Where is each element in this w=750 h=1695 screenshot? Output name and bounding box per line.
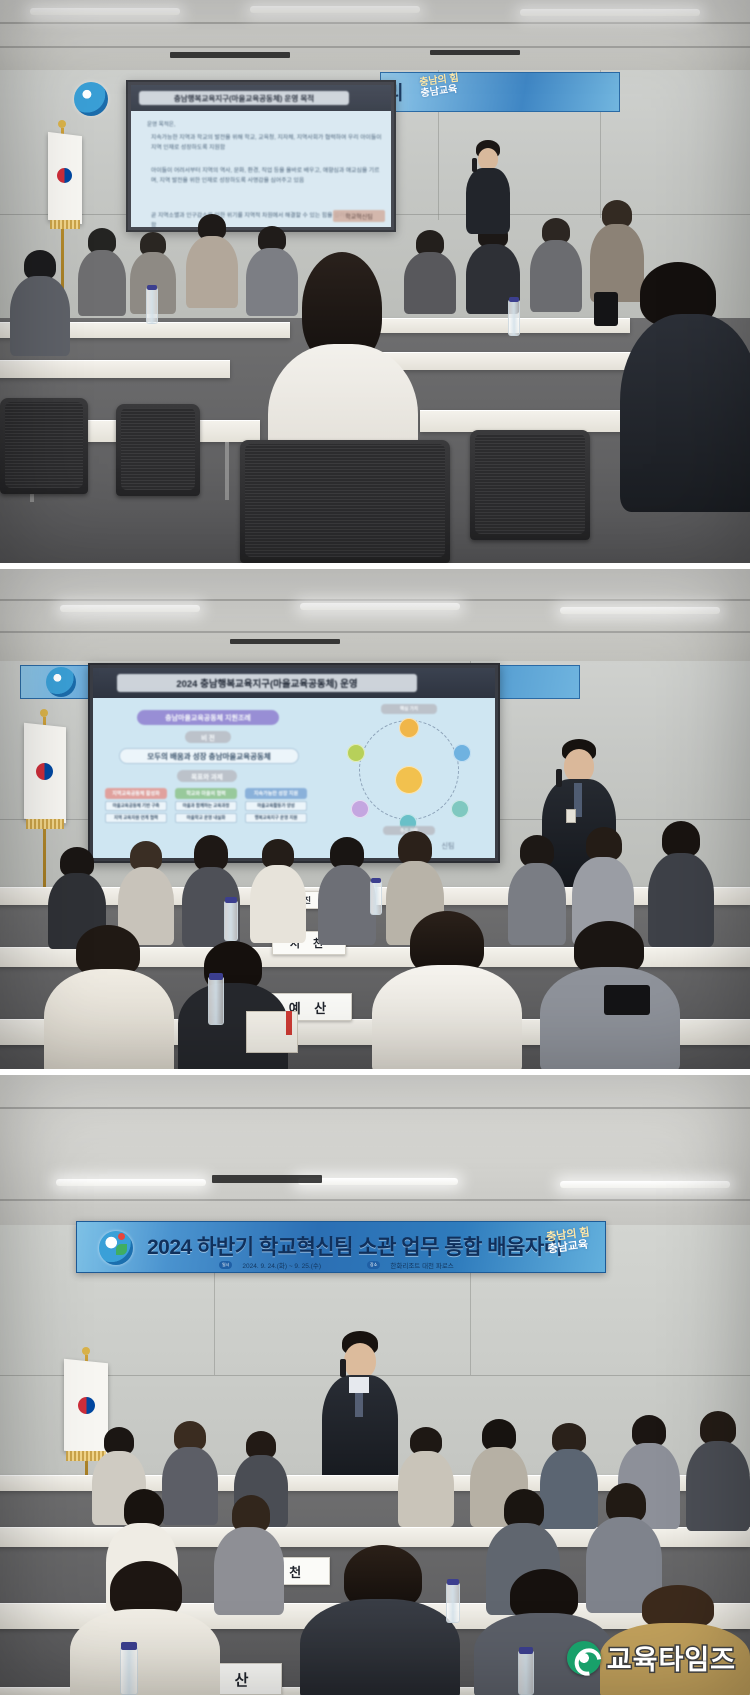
shoulders: [530, 240, 582, 312]
watermark-text: 교육타임즈: [607, 1638, 736, 1677]
ceiling-light: [250, 6, 420, 13]
audience-member: [78, 228, 126, 318]
audience-member: [318, 837, 376, 947]
microphone: [340, 1359, 346, 1377]
hair: [194, 835, 228, 871]
flag-fringe: [50, 220, 80, 229]
audience-member-foreground: [44, 925, 174, 1069]
ceiling-seam: [0, 46, 750, 48]
ceiling-vent: [170, 52, 290, 58]
suit-body: [466, 168, 510, 234]
diagram-node-center: [395, 766, 423, 794]
flag-fringe: [26, 819, 64, 829]
chair: [470, 430, 590, 540]
institution-logo-icon: [99, 1231, 133, 1265]
banner-title: 2024 하반기 학교혁신팀 소관 업무 통합 배움자리: [147, 1231, 562, 1261]
ceiling-light: [298, 1178, 458, 1185]
hair: [700, 1411, 736, 1445]
chair: [0, 398, 88, 494]
audience-member: [10, 250, 70, 360]
head: [344, 1343, 376, 1379]
head: [478, 148, 498, 170]
audience-member-foreground-right: [620, 262, 750, 512]
water-bottle: [208, 977, 224, 1025]
slide-chip-vision-label: 비 전: [185, 731, 231, 743]
flag-taegeuk-icon: [36, 763, 53, 780]
conference-photo-2: 충남의 힘 충남교육 2024 충남행복교육지구(마을교육공동체) 운영 충남마…: [0, 569, 750, 1069]
microphone: [472, 158, 477, 172]
diagram-node: [351, 800, 369, 818]
slide-chip-goal-label: 목표와 과제: [177, 770, 237, 782]
shoulders: [398, 1451, 454, 1527]
logo-leaf: [116, 1244, 127, 1255]
conference-banner: 2024 하반기 학교혁신팀 소관 업무 통합 배움자리 일시 2024. 9.…: [76, 1221, 606, 1273]
head: [564, 749, 594, 783]
bottle-cap: [225, 897, 237, 903]
chair-mesh: [121, 408, 195, 490]
shoulders: [214, 1527, 284, 1615]
audience-member-foreground: [372, 911, 522, 1069]
dress-shirt: [349, 1377, 369, 1393]
audience-member: [398, 1427, 454, 1529]
bottle-cap: [209, 973, 223, 980]
shoulders: [404, 252, 456, 314]
bottle-cap: [121, 1642, 137, 1650]
water-bottle: [518, 1651, 534, 1695]
photo-composite: 리 충남의 힘 충남교육 충남행복교육지구(마을교육공동체) 운영 목적 운영 …: [0, 0, 750, 1695]
diagram-node: [347, 744, 365, 762]
slide-col-item: 마을교육활동가 양성: [245, 801, 307, 811]
smartphone: [594, 292, 618, 326]
desk-row: [0, 360, 230, 378]
slide-header: 2024 충남행복교육지구(마을교육공동체) 운영: [93, 668, 495, 698]
slide-title: 2024 충남행복교육지구(마을교육공동체) 운영: [117, 674, 417, 692]
ceiling-seam: [0, 22, 750, 24]
projector-glow: [120, 74, 404, 240]
bottle-cap: [519, 1647, 533, 1654]
shoulders: [250, 865, 306, 943]
slide-col-item: 마을학교 운영 내실화: [175, 813, 237, 823]
slide-chip-header: 충남마을교육공동체 지원조례: [137, 710, 279, 725]
desk-leg: [225, 442, 229, 500]
bottle-cap: [371, 878, 381, 883]
microphone: [556, 769, 562, 787]
slide-col-header: 지역교육공동체 활성화: [105, 788, 167, 799]
flag-finial: [40, 709, 48, 717]
institution-logo-icon: [46, 667, 76, 697]
shoulders: [10, 276, 70, 356]
shoulders: [372, 965, 522, 1069]
flag-finial: [58, 120, 66, 128]
diagram-node: [451, 800, 469, 818]
audience-member: [214, 1495, 284, 1613]
place-tag: 장소: [367, 1261, 380, 1269]
flag-taegeuk-icon: [57, 168, 72, 183]
slide-chip-vision-text: 모두의 배움과 성장 충남마을교육공동체: [119, 748, 299, 764]
shoulders: [686, 1441, 750, 1531]
audience-member: [250, 839, 306, 945]
chair-mesh: [245, 444, 445, 557]
ceiling-light: [560, 1181, 730, 1188]
hair: [398, 831, 432, 865]
shoulders: [620, 314, 750, 512]
slide-col-item: 마을과 함께하는 교육과정: [175, 801, 237, 811]
water-bottle: [146, 288, 158, 324]
shoulders: [186, 236, 238, 308]
ceiling-light: [56, 1179, 206, 1186]
ceiling-light: [30, 8, 180, 15]
flag-taegeuk-icon: [78, 1397, 95, 1414]
diagram-node: [453, 744, 471, 762]
logo-dot: [118, 1233, 125, 1240]
presenter: [462, 140, 514, 234]
bottle-cap: [147, 285, 157, 290]
shoulders: [70, 1609, 220, 1695]
slide-col-item: 행복교육지구 운영 지원: [245, 813, 307, 823]
slide-col-header: 학교와 마을의 협력: [175, 788, 237, 799]
water-bottle: [120, 1647, 138, 1695]
bookmark: [286, 1011, 292, 1035]
banner-place: 한화리조트 대천 파로스: [390, 1260, 453, 1270]
shoulders: [300, 1599, 460, 1695]
slide-diagram: 핵심 가치 추진 전략: [329, 704, 489, 834]
shoulders: [318, 865, 376, 945]
education-times-logo-icon: [567, 1641, 601, 1675]
bottle-cap: [447, 1579, 459, 1585]
institution-logo-icon: [74, 82, 108, 116]
water-bottle: [446, 1583, 460, 1623]
ceiling-vent: [430, 50, 520, 55]
slide-col-header: 지속가능한 성장 지원: [245, 788, 307, 799]
ceiling-seam: [0, 599, 750, 601]
hair: [662, 821, 700, 857]
watermark: 교육타임즈: [567, 1638, 736, 1677]
banner-fragment: [380, 72, 620, 112]
banner-date: 2024. 9. 24.(화) ~ 9. 25.(수): [242, 1260, 321, 1270]
ceiling-light: [520, 9, 700, 16]
camera-device: [604, 985, 650, 1015]
shoulders: [44, 969, 174, 1069]
shoulders: [78, 250, 126, 316]
banner-subtitle: 일시 2024. 9. 24.(화) ~ 9. 25.(수) 장소 한화리조트 …: [219, 1260, 454, 1270]
chair-mesh: [475, 434, 585, 534]
date-tag: 일시: [219, 1261, 232, 1269]
ceiling-vent: [212, 1175, 322, 1183]
ceiling-light: [300, 603, 460, 610]
audience-member: [404, 230, 456, 316]
ceiling-seam: [0, 631, 750, 633]
ceiling-seam: [0, 1107, 750, 1109]
water-bottle: [370, 881, 382, 915]
chungnam-emblem-icon: 충남의 힘 충남교육: [546, 1227, 592, 1255]
presenter: [320, 1331, 400, 1491]
ceiling-light: [60, 605, 200, 612]
conference-photo-1: 리 충남의 힘 충남교육 충남행복교육지구(마을교육공동체) 운영 목적 운영 …: [0, 0, 750, 563]
audience-member-foreground: [70, 1561, 220, 1695]
ceiling-panel-2: [0, 569, 750, 661]
ceiling-panel-3: [0, 1075, 750, 1225]
diagram-caption-top: 핵심 가치: [381, 704, 437, 714]
audience-member: [530, 218, 582, 314]
ceiling-seam: [0, 1199, 750, 1201]
bottle-cap: [509, 297, 519, 302]
screen-surface: 2024 충남행복교육지구(마을교육공동체) 운영 충남마을교육공동체 지원조례…: [93, 668, 495, 858]
water-bottle: [508, 300, 520, 336]
flag-finial: [82, 1347, 90, 1355]
ceiling-vent: [230, 639, 340, 644]
chair-mesh: [5, 402, 83, 488]
ceiling-light: [560, 607, 720, 614]
chair: [116, 404, 200, 496]
shoulders: [540, 967, 680, 1069]
audience-member: [186, 214, 238, 310]
slide-col-item: 지역 교육자원 연계 협력: [105, 813, 167, 823]
hair: [586, 827, 622, 861]
conference-photo-3: 2024 하반기 학교혁신팀 소관 업무 통합 배움자리 일시 2024. 9.…: [0, 1075, 750, 1695]
water-bottle: [224, 901, 238, 941]
audience-member: [686, 1411, 750, 1531]
diagram-node: [399, 718, 419, 738]
chair: [240, 440, 450, 563]
slide-col-item: 마을교육공동체 기반 구축: [105, 801, 167, 811]
name-badge: [566, 809, 576, 823]
audience-member-foreground: [300, 1545, 460, 1695]
